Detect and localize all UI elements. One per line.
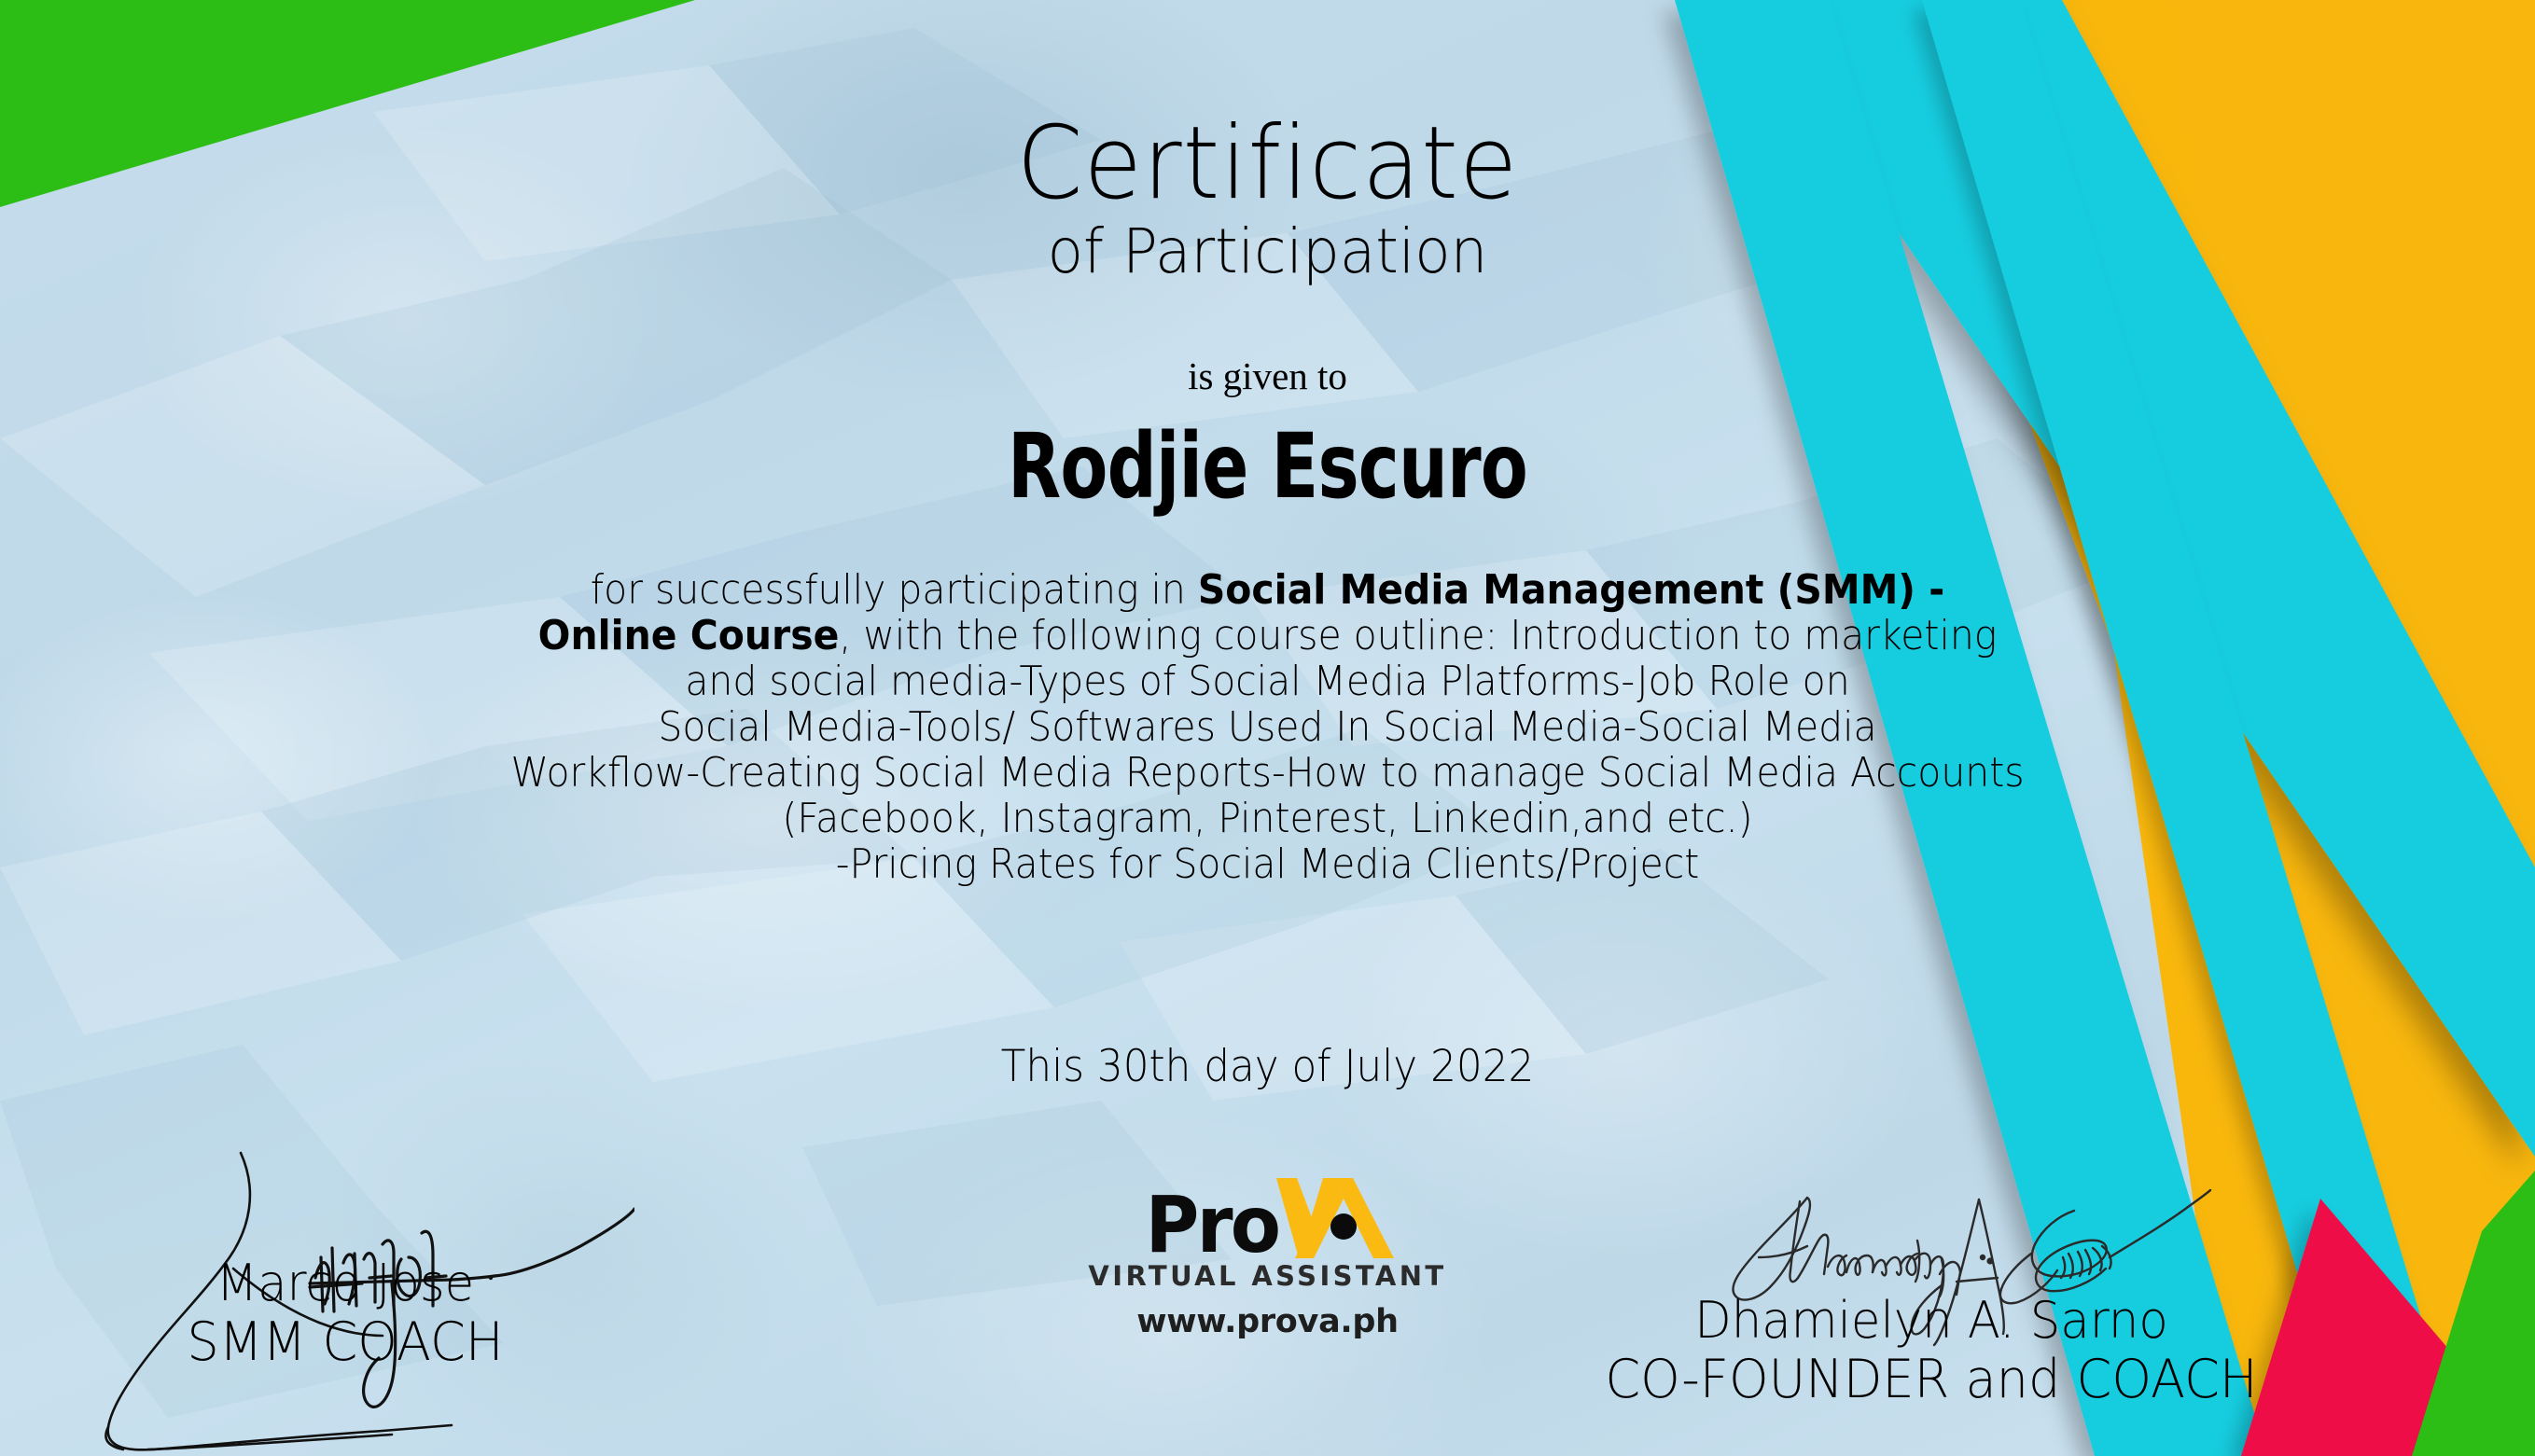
course-name-part2: Online Course bbox=[538, 612, 840, 659]
signer-role-left: SMM COACH bbox=[62, 1312, 629, 1372]
signature-block-right: Dhamielyn A. Sarno CO-FOUNDER and COACH bbox=[1502, 1189, 2361, 1409]
body-line-2-rest: , with the following course outline: Int… bbox=[839, 612, 1997, 659]
body-line-1: for successfully participating in Social… bbox=[89, 567, 2446, 613]
va-monogram-icon bbox=[1276, 1178, 1394, 1258]
body-line-7: -Pricing Rates for Social Media Clients/… bbox=[89, 841, 2446, 887]
body-lead: for successfully participating in bbox=[591, 566, 1198, 614]
recipient-name: Rodjie Escuro bbox=[177, 422, 2358, 511]
signature-right-names: Dhamielyn A. Sarno CO-FOUNDER and COACH bbox=[1502, 1189, 2361, 1409]
logo-mark-va bbox=[1276, 1178, 1394, 1258]
body-line-6: (Facebook, Instagram, Pinterest, Linkedi… bbox=[89, 796, 2446, 841]
signer-name-right: Dhamielyn A. Sarno bbox=[1524, 1292, 2339, 1350]
certificate-canvas: Certificate of Participation is given to… bbox=[0, 0, 2535, 1456]
certificate-title: Certificate bbox=[77, 114, 2459, 215]
certificate-body: for successfully participating in Social… bbox=[89, 567, 2446, 887]
logo-wordmark: Pro bbox=[1072, 1169, 1464, 1258]
body-line-3: and social media-Types of Social Media P… bbox=[89, 659, 2446, 704]
body-line-5: Workflow-Creating Social Media Reports-H… bbox=[89, 750, 2446, 796]
signature-block-left: Marco Jose SMM COACH bbox=[47, 1166, 644, 1372]
signer-name-left: Marco Jose bbox=[62, 1255, 629, 1312]
logo-website-url: www.prova.ph bbox=[1072, 1303, 1464, 1340]
signer-role-right: CO-FOUNDER and COACH bbox=[1524, 1350, 2339, 1409]
body-line-4: Social Media-Tools/ Softwares Used In So… bbox=[89, 704, 2446, 750]
prova-logo: Pro VIRTUAL ASSISTANT www.prova.ph bbox=[1072, 1169, 1464, 1340]
given-to-label: is given to bbox=[0, 357, 2535, 395]
signature-left-names: Marco Jose SMM COACH bbox=[47, 1166, 644, 1372]
logo-text-pro: Pro bbox=[1145, 1191, 1278, 1258]
body-line-2: Online Course, with the following course… bbox=[89, 613, 2446, 659]
certificate-subtitle: of Participation bbox=[63, 221, 2472, 283]
issue-date: This 30th day of July 2022 bbox=[89, 1045, 2446, 1089]
course-name-part1: Social Media Management (SMM) - bbox=[1198, 566, 1944, 614]
